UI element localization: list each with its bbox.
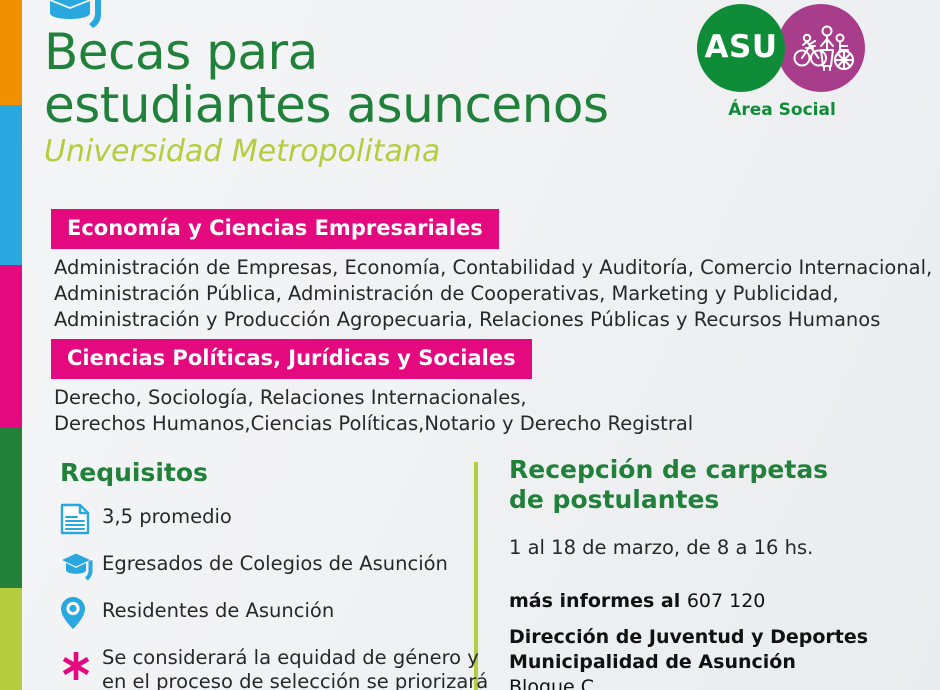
- body-line: Administración de Empresas, Economía, Co…: [54, 255, 932, 281]
- graduation-cap-icon: [60, 549, 102, 583]
- list-item-line: en el proceso de selección se priorizará: [102, 670, 488, 690]
- logo-circle-green: ASU: [697, 4, 785, 92]
- list-item: Se considerará la equidad de género y en…: [60, 643, 460, 690]
- address-line-1: Dirección de Juventud y Deportes: [509, 625, 929, 650]
- phone-number: 607 120: [687, 590, 766, 612]
- body-line: Derechos Humanos,Ciencias Políticas,Nota…: [54, 411, 693, 437]
- logo-circles: ASU: [697, 4, 882, 92]
- logo-acronym: ASU: [705, 32, 778, 65]
- list-item-line: Se considerará la equidad de género y: [102, 646, 479, 669]
- list-item: Residentes de Asunción: [60, 596, 460, 630]
- requisitos-heading: Requisitos: [60, 458, 460, 488]
- poster-canvas: Becas para estudiantes asuncenos Univers…: [0, 0, 940, 690]
- requisitos-list: 3,5 promedio Egresados de Colegios de As…: [60, 502, 460, 690]
- address-block: Dirección de Juventud y Deportes Municip…: [509, 625, 929, 690]
- section-banner-economia: Economía y Ciencias Empresariales: [51, 209, 499, 249]
- asterisk-icon: [60, 643, 102, 683]
- recepcion-column: Recepción de carpetas de postulantes 1 a…: [509, 455, 929, 690]
- location-pin-icon: [60, 596, 102, 630]
- list-item-label: Se considerará la equidad de género y en…: [102, 643, 488, 690]
- phone-label: más informes al: [509, 590, 687, 612]
- stripe-band-light-green: [0, 588, 22, 690]
- page-title-line1: Becas para: [44, 26, 684, 79]
- color-stripe: [0, 0, 22, 690]
- people-cyclist-wheelchair-icon: [793, 22, 855, 74]
- document-icon: [60, 502, 102, 536]
- stripe-band-orange: [0, 0, 22, 105]
- address-line-2: Municipalidad de Asunción: [509, 650, 929, 675]
- recepcion-dates: 1 al 18 de marzo, de 8 a 16 hs.: [509, 535, 929, 561]
- stripe-band-dark-green: [0, 428, 22, 588]
- recepcion-heading-line1: Recepción de carpetas: [509, 455, 929, 485]
- phone-info: más informes al 607 120: [509, 588, 929, 614]
- list-item: 3,5 promedio: [60, 502, 460, 536]
- body-line: Administración Pública, Administración d…: [54, 281, 932, 307]
- recepcion-heading-line2: de postulantes: [509, 485, 929, 515]
- asu-logo: ASU: [697, 4, 882, 129]
- list-item-label: Residentes de Asunción: [102, 596, 334, 623]
- list-item: Egresados de Colegios de Asunción: [60, 549, 460, 583]
- title-block: Becas para estudiantes asuncenos Univers…: [44, 26, 684, 169]
- stripe-band-magenta: [0, 265, 22, 428]
- section-banner-ciencias: Ciencias Políticas, Jurídicas y Sociales: [51, 339, 532, 379]
- stripe-band-blue: [0, 105, 22, 265]
- page-title-line2: estudiantes asuncenos: [44, 79, 684, 132]
- body-line: Administración y Producción Agropecuaria…: [54, 307, 932, 333]
- body-line: Derecho, Sociología, Relaciones Internac…: [54, 385, 693, 411]
- address-line-3: Bloque C: [509, 675, 929, 690]
- logo-caption: Área Social: [697, 100, 867, 120]
- list-item-label: Egresados de Colegios de Asunción: [102, 549, 448, 576]
- page-subtitle: Universidad Metropolitana: [44, 135, 684, 169]
- section-body-economia: Administración de Empresas, Economía, Co…: [54, 255, 932, 333]
- list-item-label: 3,5 promedio: [102, 502, 232, 529]
- requisitos-column: Requisitos 3,5 promedio: [60, 458, 460, 690]
- section-body-ciencias: Derecho, Sociología, Relaciones Internac…: [54, 385, 693, 437]
